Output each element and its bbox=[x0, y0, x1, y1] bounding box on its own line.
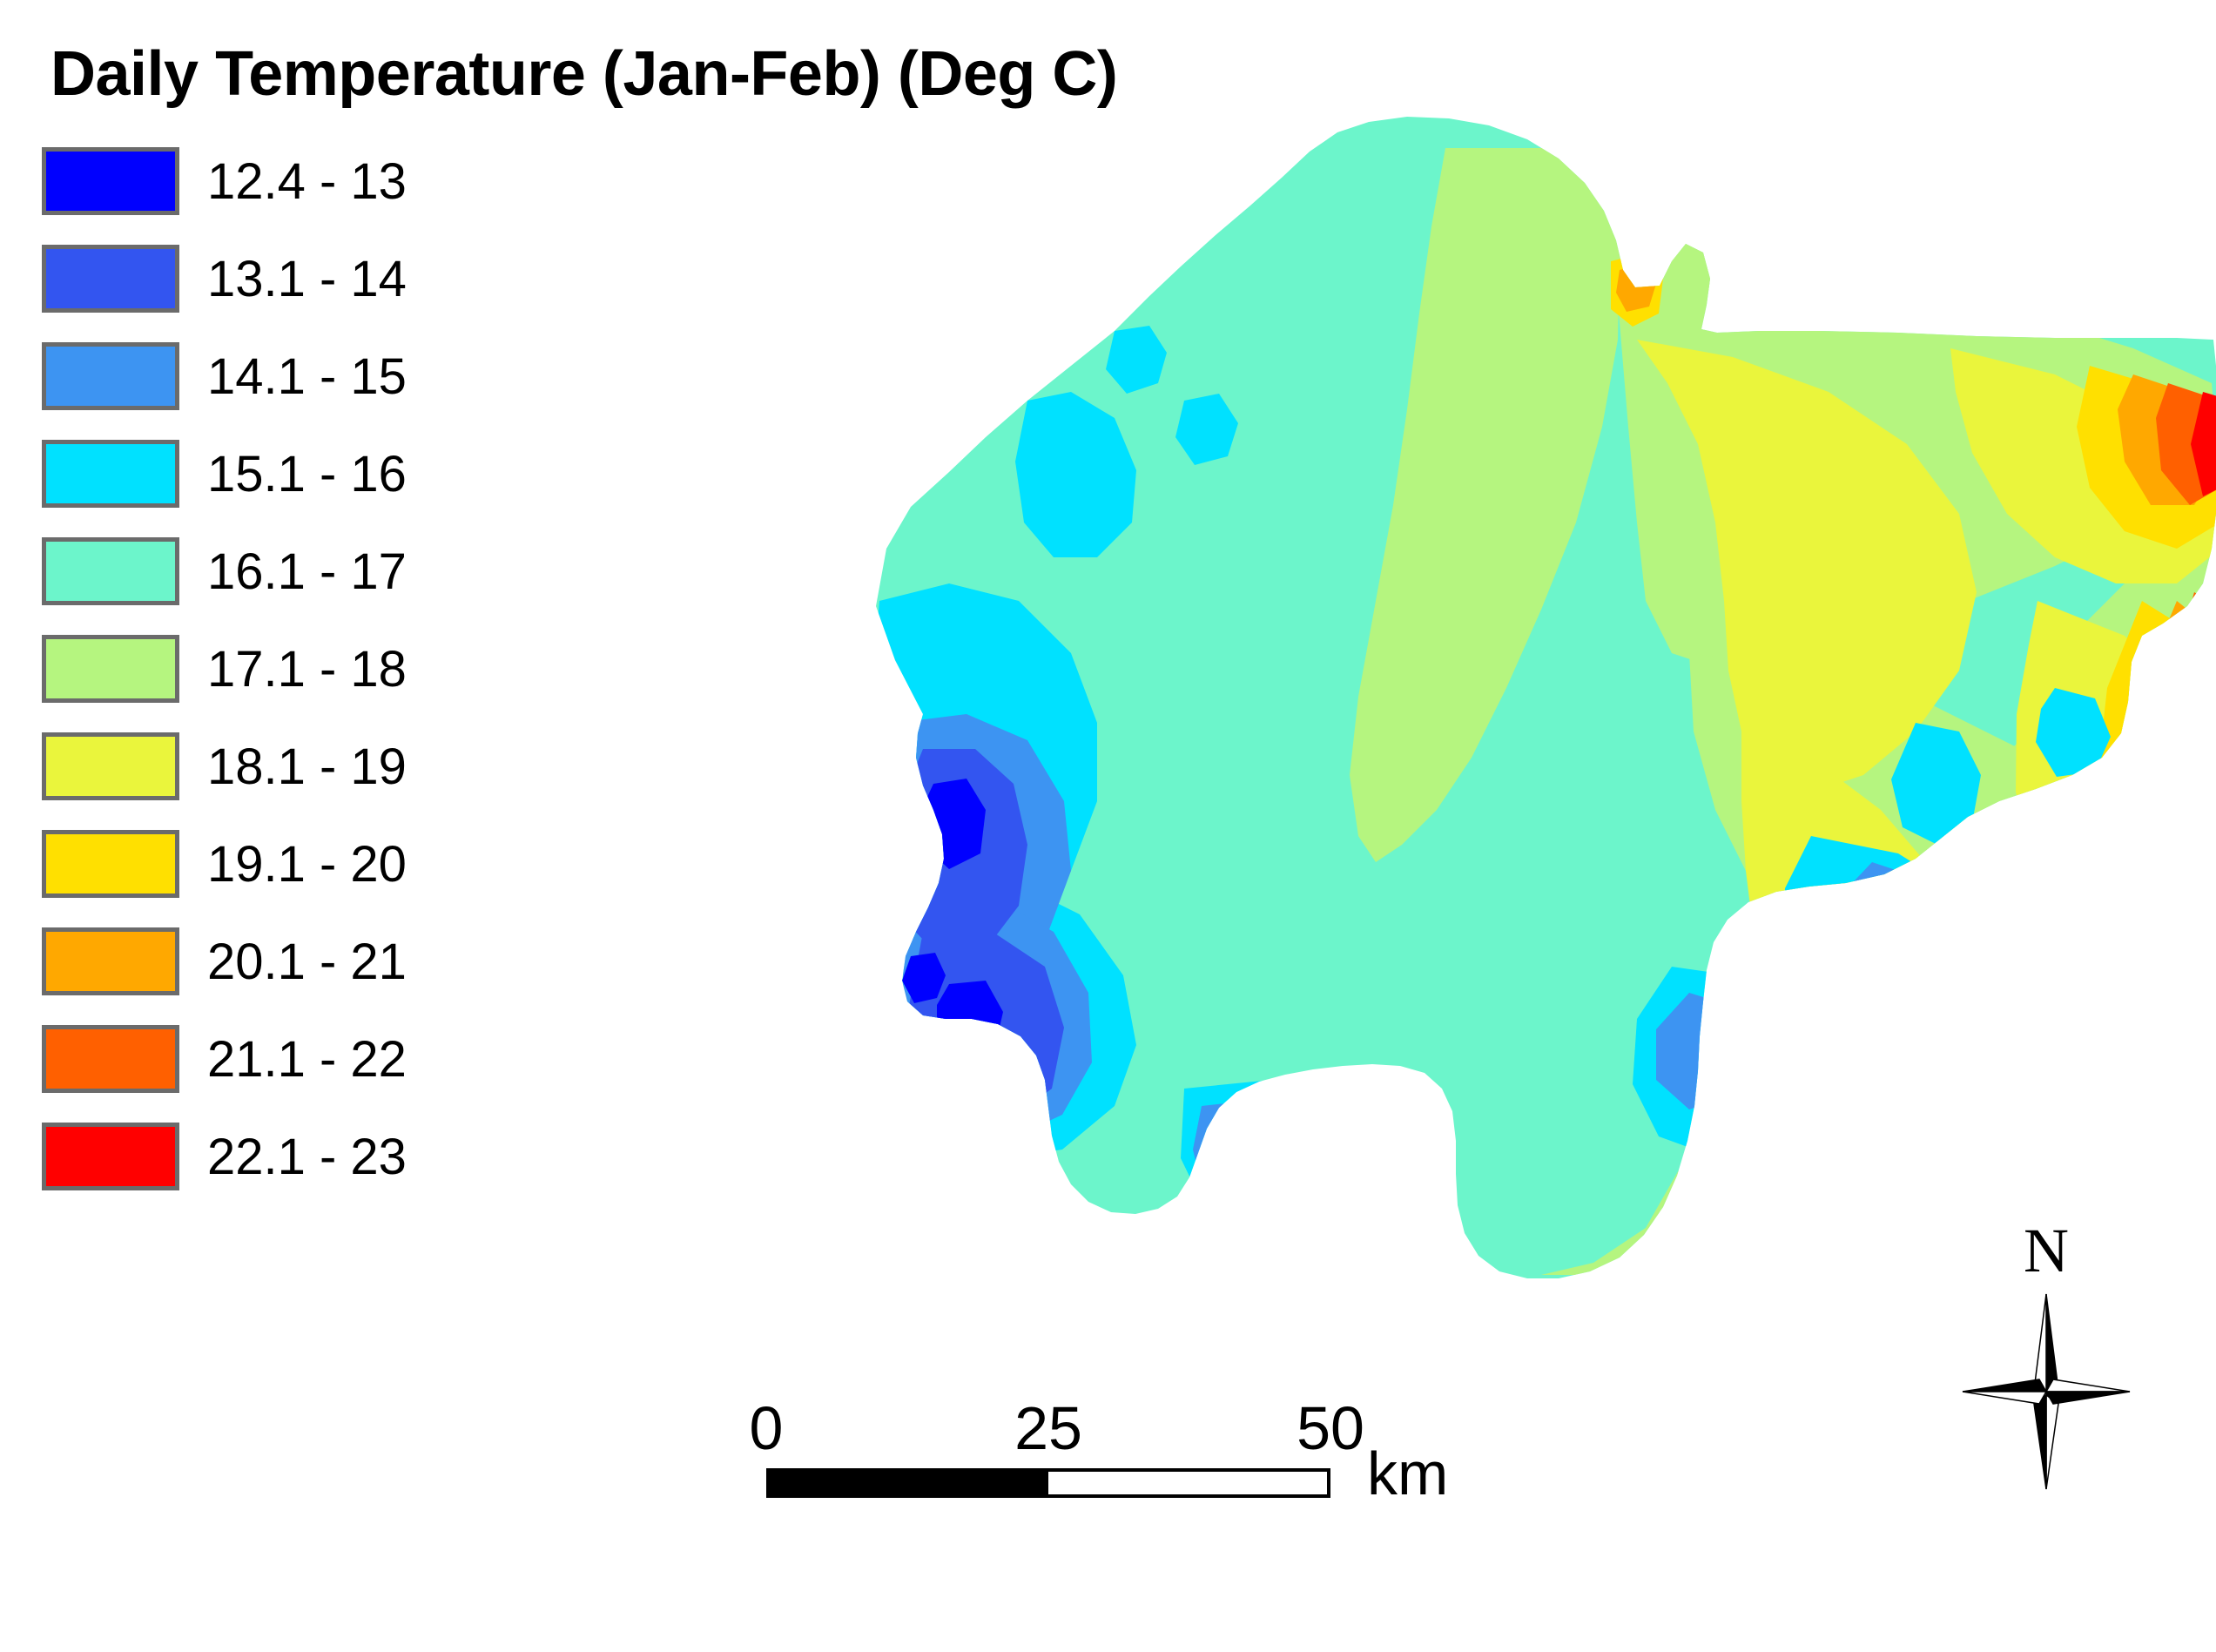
scale-bar-graphic bbox=[766, 1468, 1330, 1498]
legend-color-swatch bbox=[42, 342, 179, 410]
scale-bar-segment bbox=[1048, 1472, 1327, 1494]
scale-bar-tick: 25 bbox=[1014, 1393, 1082, 1463]
scale-bar-tick: 50 bbox=[1297, 1393, 1364, 1463]
legend-color-swatch bbox=[42, 245, 179, 313]
legend-color-swatch bbox=[42, 927, 179, 995]
north-arrow: N bbox=[1959, 1219, 2133, 1507]
legend-item-label: 13.1 - 14 bbox=[207, 250, 407, 308]
scale-bar-ticks: 02550 bbox=[766, 1393, 1428, 1461]
legend-item-label: 21.1 - 22 bbox=[207, 1030, 407, 1089]
legend-item-label: 20.1 - 21 bbox=[207, 933, 407, 991]
legend-item[interactable]: 16.1 - 17 bbox=[42, 536, 407, 606]
legend-item-label: 17.1 - 18 bbox=[207, 640, 407, 698]
legend-color-swatch bbox=[42, 147, 179, 215]
legend-color-swatch bbox=[42, 732, 179, 800]
legend-color-swatch bbox=[42, 830, 179, 898]
legend-color-swatch bbox=[42, 440, 179, 508]
scale-bar-tick: 0 bbox=[750, 1393, 784, 1463]
legend-item[interactable]: 15.1 - 16 bbox=[42, 439, 407, 509]
scale-bar: 02550 km bbox=[766, 1393, 1428, 1498]
legend-item[interactable]: 14.1 - 15 bbox=[42, 341, 407, 411]
scale-bar-unit: km bbox=[1367, 1439, 1448, 1508]
legend-item[interactable]: 17.1 - 18 bbox=[42, 634, 407, 704]
legend-item[interactable]: 21.1 - 22 bbox=[42, 1024, 407, 1094]
legend-item-label: 15.1 - 16 bbox=[207, 445, 407, 503]
legend-color-swatch bbox=[42, 1025, 179, 1093]
north-letter: N bbox=[1959, 1219, 2133, 1282]
legend-item[interactable]: 22.1 - 23 bbox=[42, 1122, 407, 1191]
map-page: Daily Temperature (Jan-Feb) (Deg C) 12.4… bbox=[0, 0, 2216, 1652]
legend-item[interactable]: 20.1 - 21 bbox=[42, 927, 407, 996]
legend-item-label: 16.1 - 17 bbox=[207, 543, 407, 601]
legend-item[interactable]: 13.1 - 14 bbox=[42, 244, 407, 314]
legend-color-swatch bbox=[42, 635, 179, 703]
legend-item[interactable]: 19.1 - 20 bbox=[42, 829, 407, 899]
legend-color-swatch bbox=[42, 1123, 179, 1190]
legend-item[interactable]: 12.4 - 13 bbox=[42, 146, 407, 216]
legend-item-label: 14.1 - 15 bbox=[207, 347, 407, 406]
legend-item-label: 22.1 - 23 bbox=[207, 1128, 407, 1186]
legend-color-swatch bbox=[42, 537, 179, 605]
page-title: Daily Temperature (Jan-Feb) (Deg C) bbox=[51, 38, 1117, 110]
legend-item-label: 18.1 - 19 bbox=[207, 738, 407, 796]
legend-item[interactable]: 18.1 - 19 bbox=[42, 732, 407, 801]
legend-item-label: 19.1 - 20 bbox=[207, 835, 407, 893]
compass-rose-icon bbox=[1959, 1287, 2133, 1496]
scale-bar-segment bbox=[770, 1472, 1048, 1494]
legend-item-label: 12.4 - 13 bbox=[207, 152, 407, 211]
legend: 12.4 - 1313.1 - 1414.1 - 1515.1 - 1616.1… bbox=[42, 146, 407, 1219]
